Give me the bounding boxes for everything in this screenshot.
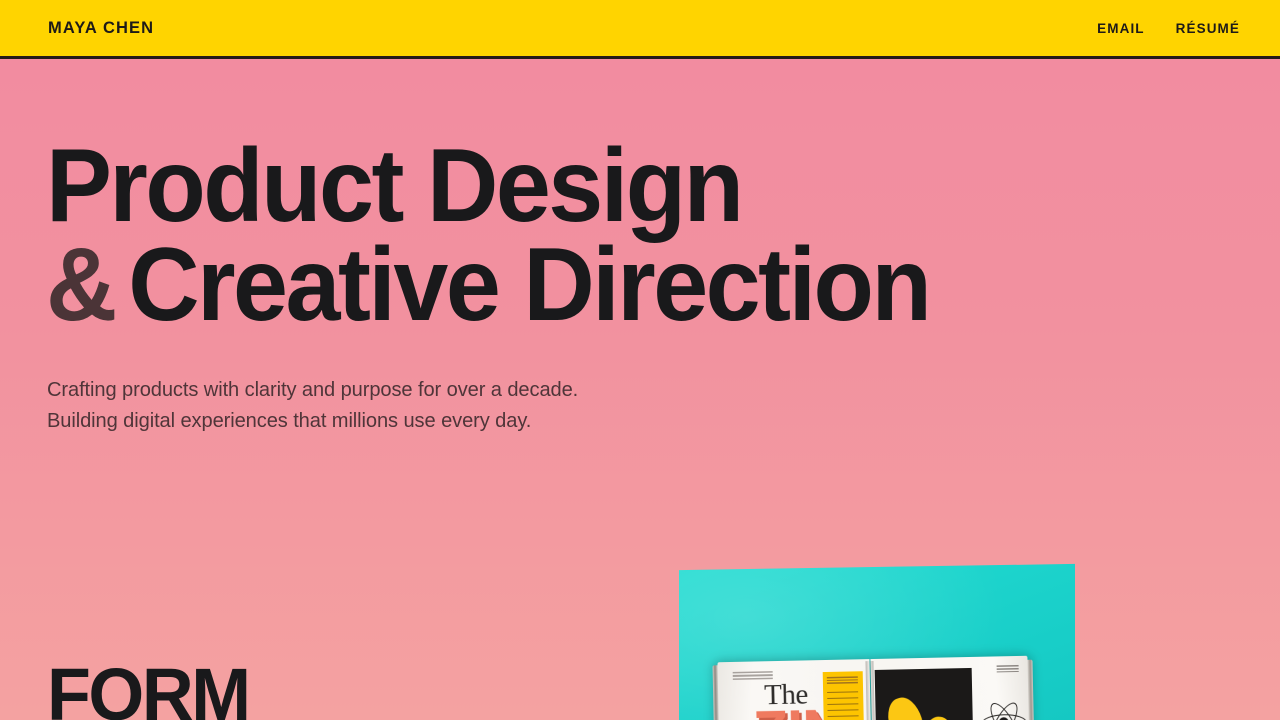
magazine-spread: The ZIN — [717, 656, 1030, 720]
photo-inner: The ZIN — [679, 563, 1075, 720]
feature-photo-magazine[interactable]: The ZIN — [679, 563, 1075, 720]
main-navigation: EMAIL RÉSUMÉ — [1097, 21, 1240, 36]
hero-section: Product Design &Creative Direction Craft… — [0, 59, 1280, 437]
hero-title-line-2-text: Creative Direction — [128, 227, 929, 343]
magazine-black-panel — [875, 668, 975, 720]
magazine-folio-lines — [997, 665, 1019, 672]
section-heading-form: FORM — [47, 658, 249, 720]
magazine-yellow-sidebar — [823, 671, 866, 720]
nav-link-resume[interactable]: RÉSUMÉ — [1176, 21, 1240, 36]
hero-title-line-1: Product Design — [46, 137, 1218, 236]
nav-link-email[interactable]: EMAIL — [1097, 21, 1145, 36]
hero-title-line-2: &Creative Direction — [46, 236, 1218, 335]
hero-subtitle-line-2: Building digital experiences that millio… — [47, 405, 1255, 437]
page-root: MAYA CHEN EMAIL RÉSUMÉ Product Design &C… — [0, 0, 1280, 720]
atom-icon — [979, 698, 1028, 720]
magazine-page-right — [870, 656, 1030, 720]
hero-subtitle-line-1: Crafting products with clarity and purpo… — [47, 374, 1255, 406]
pear-shape-icon — [882, 693, 925, 720]
hero-ampersand: & — [46, 227, 115, 343]
brand-logo[interactable]: MAYA CHEN — [48, 19, 154, 38]
page-title: Product Design &Creative Direction — [46, 137, 1218, 335]
site-header: MAYA CHEN EMAIL RÉSUMÉ — [0, 0, 1280, 59]
sidebar-body-lines — [827, 691, 860, 720]
sidebar-heading-lines — [827, 676, 858, 685]
magazine-page-left: The ZIN — [717, 659, 872, 720]
hero-subtitle: Crafting products with clarity and purpo… — [47, 374, 1255, 438]
